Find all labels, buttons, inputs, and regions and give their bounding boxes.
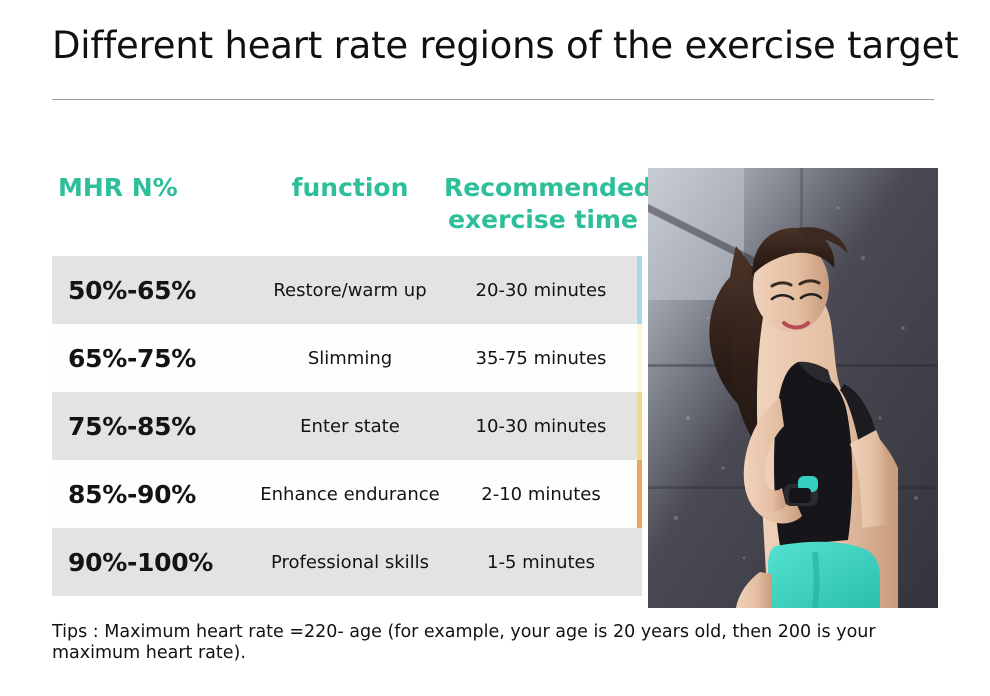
cell-recommended-time: 1-5 minutes: [440, 552, 642, 573]
cell-mhr-range: 50%-65%: [52, 276, 260, 305]
title-divider: [52, 99, 934, 100]
tips-text: Tips : Maximum heart rate =220- age (for…: [52, 622, 952, 663]
row-color-marker: [637, 460, 642, 528]
table-row: 90%-100%Professional skills1-5 minutes: [52, 528, 642, 596]
heart-rate-zone-infographic: Different heart rate regions of the exer…: [0, 0, 990, 696]
cell-function: Slimming: [260, 348, 440, 369]
cell-function: Enter state: [260, 416, 440, 437]
row-color-marker: [637, 392, 642, 460]
cell-function: Enhance endurance: [260, 484, 440, 505]
column-header-mhr: MHR N%: [52, 172, 260, 204]
cell-mhr-range: 85%-90%: [52, 480, 260, 509]
table-row: 75%-85%Enter state10-30 minutes: [52, 392, 642, 460]
column-header-function: function: [260, 172, 440, 204]
cell-recommended-time: 35-75 minutes: [440, 348, 642, 369]
table-body: 50%-65%Restore/warm up20-30 minutes65%-7…: [52, 256, 642, 596]
column-header-recommended-time: Recommended exercise time: [440, 172, 642, 236]
fitness-photo: [648, 168, 938, 608]
row-color-marker: [637, 324, 642, 392]
cell-recommended-time: 20-30 minutes: [440, 280, 642, 301]
cell-function: Professional skills: [260, 552, 440, 573]
table-row: 85%-90%Enhance endurance2-10 minutes: [52, 460, 642, 528]
cell-mhr-range: 75%-85%: [52, 412, 260, 441]
table-row: 65%-75%Slimming35-75 minutes: [52, 324, 642, 392]
row-color-marker: [637, 528, 642, 596]
column-header-recommended-time-line2: exercise time: [444, 204, 642, 236]
cell-recommended-time: 2-10 minutes: [440, 484, 642, 505]
cell-recommended-time: 10-30 minutes: [440, 416, 642, 437]
cell-mhr-range: 90%-100%: [52, 548, 260, 577]
column-header-recommended-time-line1: Recommended: [444, 172, 642, 204]
fitness-photo-illustration: [648, 168, 938, 608]
cell-function: Restore/warm up: [260, 280, 440, 301]
table-header-row: MHR N% function Recommended exercise tim…: [52, 168, 642, 256]
table-row: 50%-65%Restore/warm up20-30 minutes: [52, 256, 642, 324]
row-color-marker: [637, 256, 642, 324]
page-title: Different heart rate regions of the exer…: [52, 24, 952, 67]
cell-mhr-range: 65%-75%: [52, 344, 260, 373]
heart-rate-zone-table: MHR N% function Recommended exercise tim…: [52, 168, 642, 596]
